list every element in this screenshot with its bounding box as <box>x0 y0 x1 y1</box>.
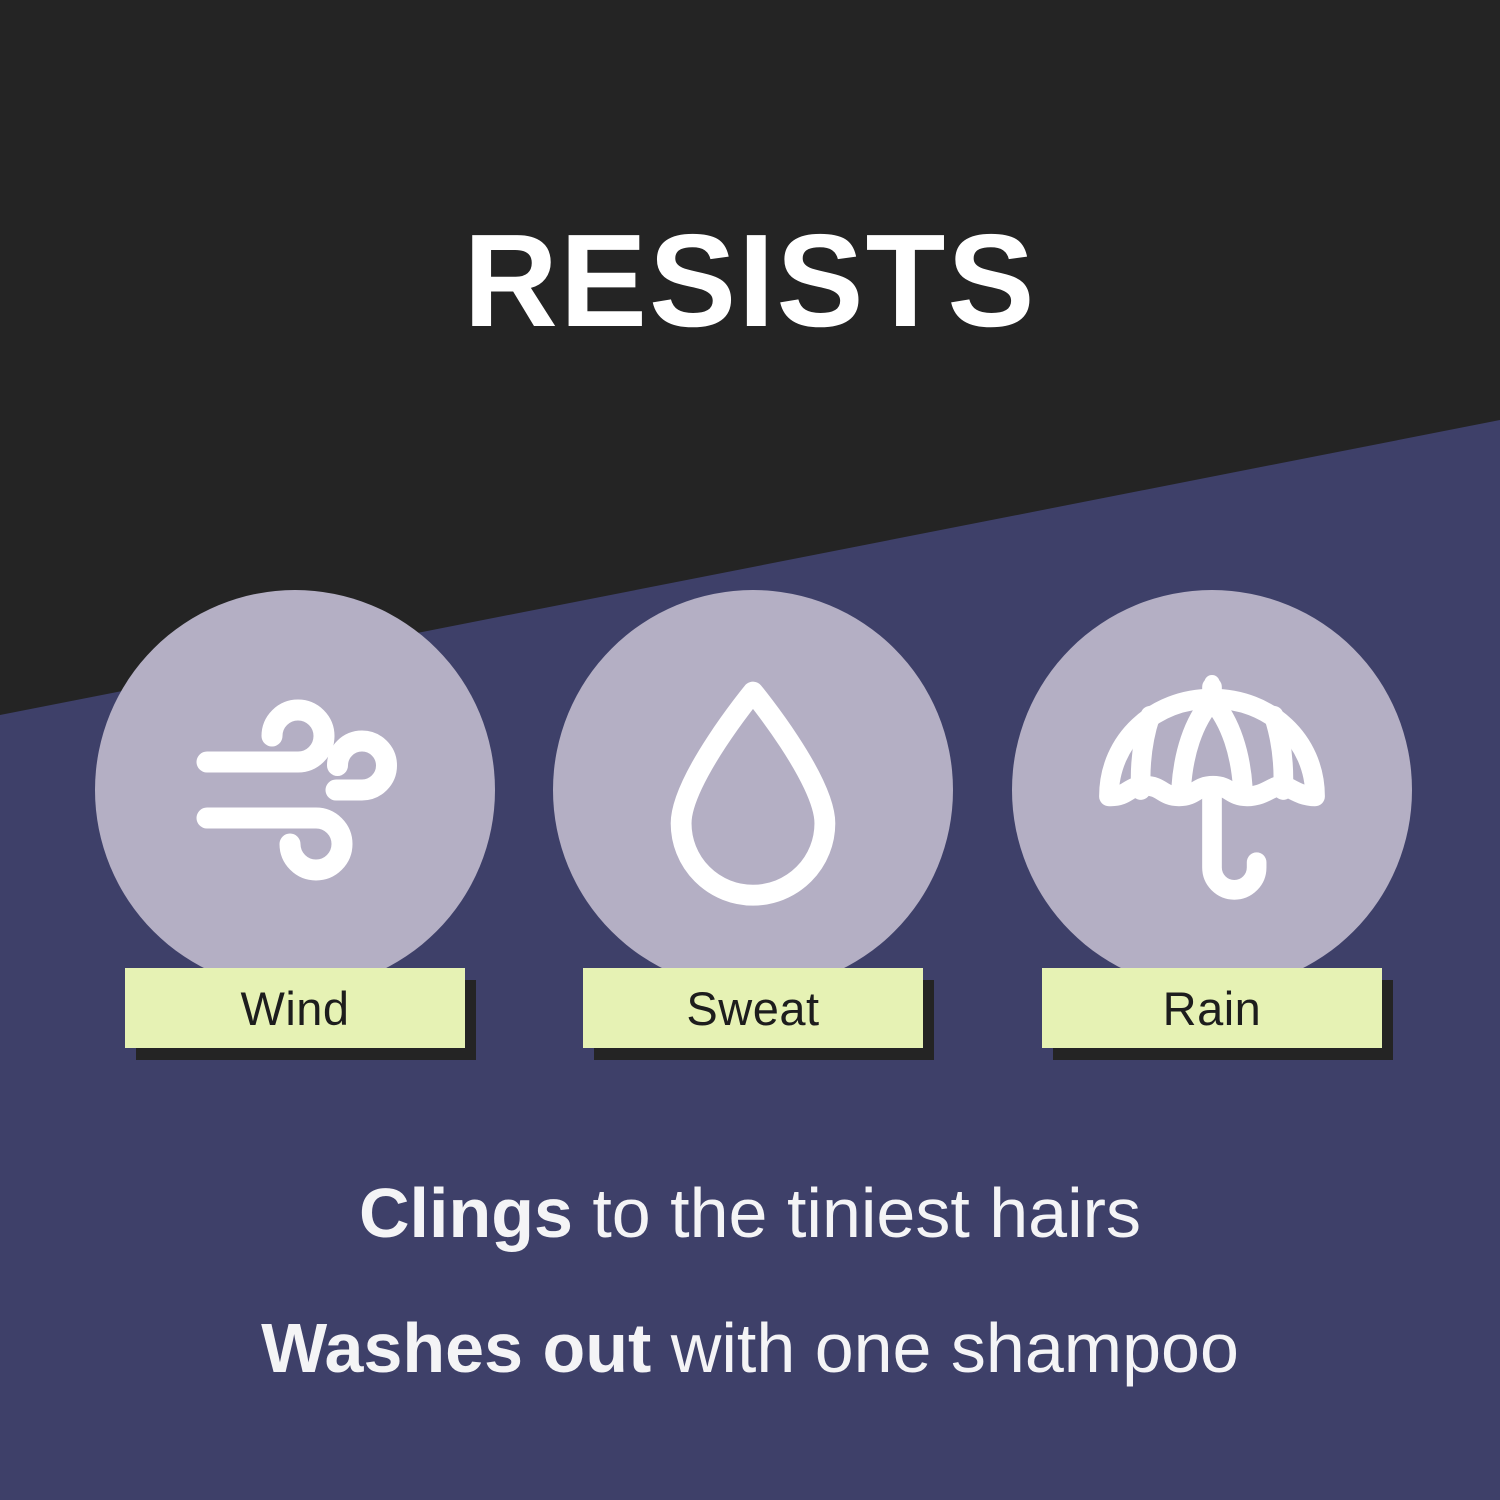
badge-label: Sweat <box>686 985 819 1032</box>
feature-item-rain: Rain <box>1012 590 1412 1060</box>
feature-row: Wind Sweat <box>0 590 1500 1060</box>
icon-disc <box>553 590 953 990</box>
badge-surface: Sweat <box>583 968 923 1048</box>
icon-disc <box>95 590 495 990</box>
tagline-line-2: Washes out with one shampoo <box>0 1313 1500 1383</box>
umbrella-icon <box>1085 663 1340 918</box>
badge-rain: Rain <box>1042 968 1382 1060</box>
badge-surface: Rain <box>1042 968 1382 1048</box>
tagline-line-1: Clings to the tiniest hairs <box>0 1178 1500 1248</box>
tagline-1-strong: Clings <box>359 1174 573 1252</box>
feature-item-sweat: Sweat <box>553 590 953 1060</box>
page-title: RESISTS <box>8 215 1493 347</box>
tagline-1-light: to the tiniest hairs <box>573 1174 1141 1252</box>
tagline-2-light: with one shampoo <box>651 1309 1239 1387</box>
feature-graphic: RESISTS Wind <box>0 0 1500 1500</box>
badge-label: Rain <box>1163 985 1262 1032</box>
feature-item-wind: Wind <box>95 590 495 1060</box>
icon-disc <box>1012 590 1412 990</box>
tagline-2-strong: Washes out <box>261 1309 651 1387</box>
droplet-icon <box>628 665 878 915</box>
wind-icon <box>175 670 415 910</box>
badge-label: Wind <box>240 985 349 1032</box>
badge-sweat: Sweat <box>583 968 923 1060</box>
badge-wind: Wind <box>125 968 465 1060</box>
badge-surface: Wind <box>125 968 465 1048</box>
